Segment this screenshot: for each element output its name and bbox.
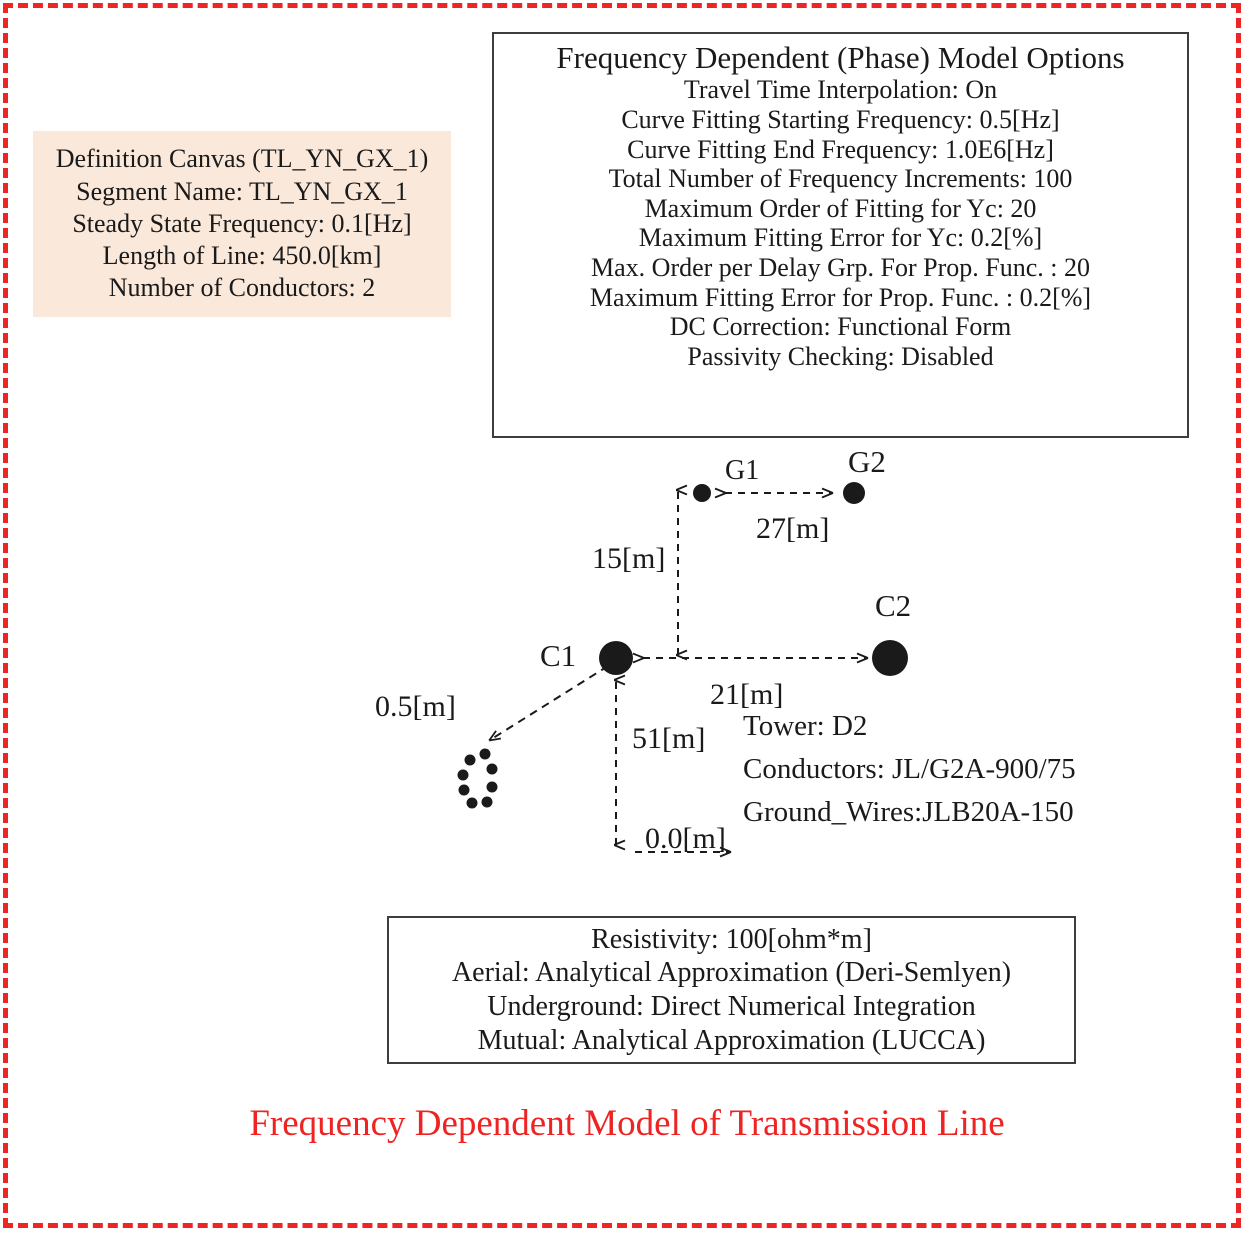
earth-box-line-0: Resistivity: 100[ohm*m] xyxy=(591,923,872,957)
fd-options-line-9: Passivity Checking: Disabled xyxy=(687,342,993,372)
definition-canvas-line-4: Number of Conductors: 2 xyxy=(109,272,375,304)
info-ground-wires: Ground_Wires:JLB20A-150 xyxy=(743,796,1074,829)
dim-label-21m: 21[m] xyxy=(710,678,783,712)
definition-canvas-line-1: Segment Name: TL_YN_GX_1 xyxy=(76,176,408,208)
fd-options-line-2: Curve Fitting End Frequency: 1.0E6[Hz] xyxy=(627,135,1054,165)
earth-box-line-1: Aerial: Analytical Approximation (Deri-S… xyxy=(452,956,1011,990)
fd-options-title: Frequency Dependent (Phase) Model Option… xyxy=(556,40,1124,75)
ground-wire-g2-dot xyxy=(843,482,865,504)
definition-canvas-line-2: Steady State Frequency: 0.1[Hz] xyxy=(72,208,411,240)
fd-options-line-5: Maximum Fitting Error for Yc: 0.2[%] xyxy=(639,223,1042,253)
label-g2: G2 xyxy=(848,444,886,480)
conductor-c1-dot xyxy=(599,641,633,675)
fd-options-line-7: Maximum Fitting Error for Prop. Func. : … xyxy=(590,283,1091,313)
dim-label-0-0m: 0.0[m] xyxy=(645,822,726,856)
definition-canvas-panel: Definition Canvas (TL_YN_GX_1) Segment N… xyxy=(33,131,451,317)
fd-options-line-6: Max. Order per Delay Grp. For Prop. Func… xyxy=(591,253,1090,283)
tower-geometry-diagram: G1 G2 27[m] 15[m] C1 C2 21[m] 0.5[m] 51[… xyxy=(380,440,1210,900)
dim-label-27m: 27[m] xyxy=(756,512,829,546)
label-c1: C1 xyxy=(540,638,576,674)
earth-return-panel: Resistivity: 100[ohm*m] Aerial: Analytic… xyxy=(387,916,1076,1064)
fd-options-line-8: DC Correction: Functional Form xyxy=(670,312,1012,342)
sub-conductor-bundle xyxy=(458,749,498,809)
tower-geometry-svg xyxy=(380,440,1210,900)
dim-label-51m: 51[m] xyxy=(632,722,705,756)
fd-options-line-3: Total Number of Frequency Increments: 10… xyxy=(609,164,1073,194)
bundle-leader-arrow xyxy=(490,666,608,740)
fd-options-line-0: Travel Time Interpolation: On xyxy=(684,75,997,105)
dim-label-15m: 15[m] xyxy=(592,542,665,576)
label-c2: C2 xyxy=(875,588,911,624)
info-tower: Tower: D2 xyxy=(743,710,867,743)
fd-options-line-4: Maximum Order of Fitting for Yc: 20 xyxy=(645,194,1037,224)
definition-canvas-line-0: Definition Canvas (TL_YN_GX_1) xyxy=(56,143,429,175)
figure-canvas: Definition Canvas (TL_YN_GX_1) Segment N… xyxy=(0,0,1254,1241)
earth-box-line-3: Mutual: Analytical Approximation (LUCCA) xyxy=(478,1024,986,1058)
definition-canvas-line-3: Length of Line: 450.0[km] xyxy=(103,240,382,272)
fd-options-line-1: Curve Fitting Starting Frequency: 0.5[Hz… xyxy=(621,105,1059,135)
dim-label-0-5m: 0.5[m] xyxy=(375,690,456,724)
figure-caption: Frequency Dependent Model of Transmissio… xyxy=(0,1102,1254,1145)
fd-model-options-panel: Frequency Dependent (Phase) Model Option… xyxy=(492,32,1189,438)
conductor-c2-dot xyxy=(872,640,908,676)
ground-wire-g1-dot xyxy=(693,484,711,502)
label-g1: G1 xyxy=(725,455,759,487)
earth-box-line-2: Underground: Direct Numerical Integratio… xyxy=(487,990,976,1024)
info-conductors: Conductors: JL/G2A-900/75 xyxy=(743,753,1076,786)
